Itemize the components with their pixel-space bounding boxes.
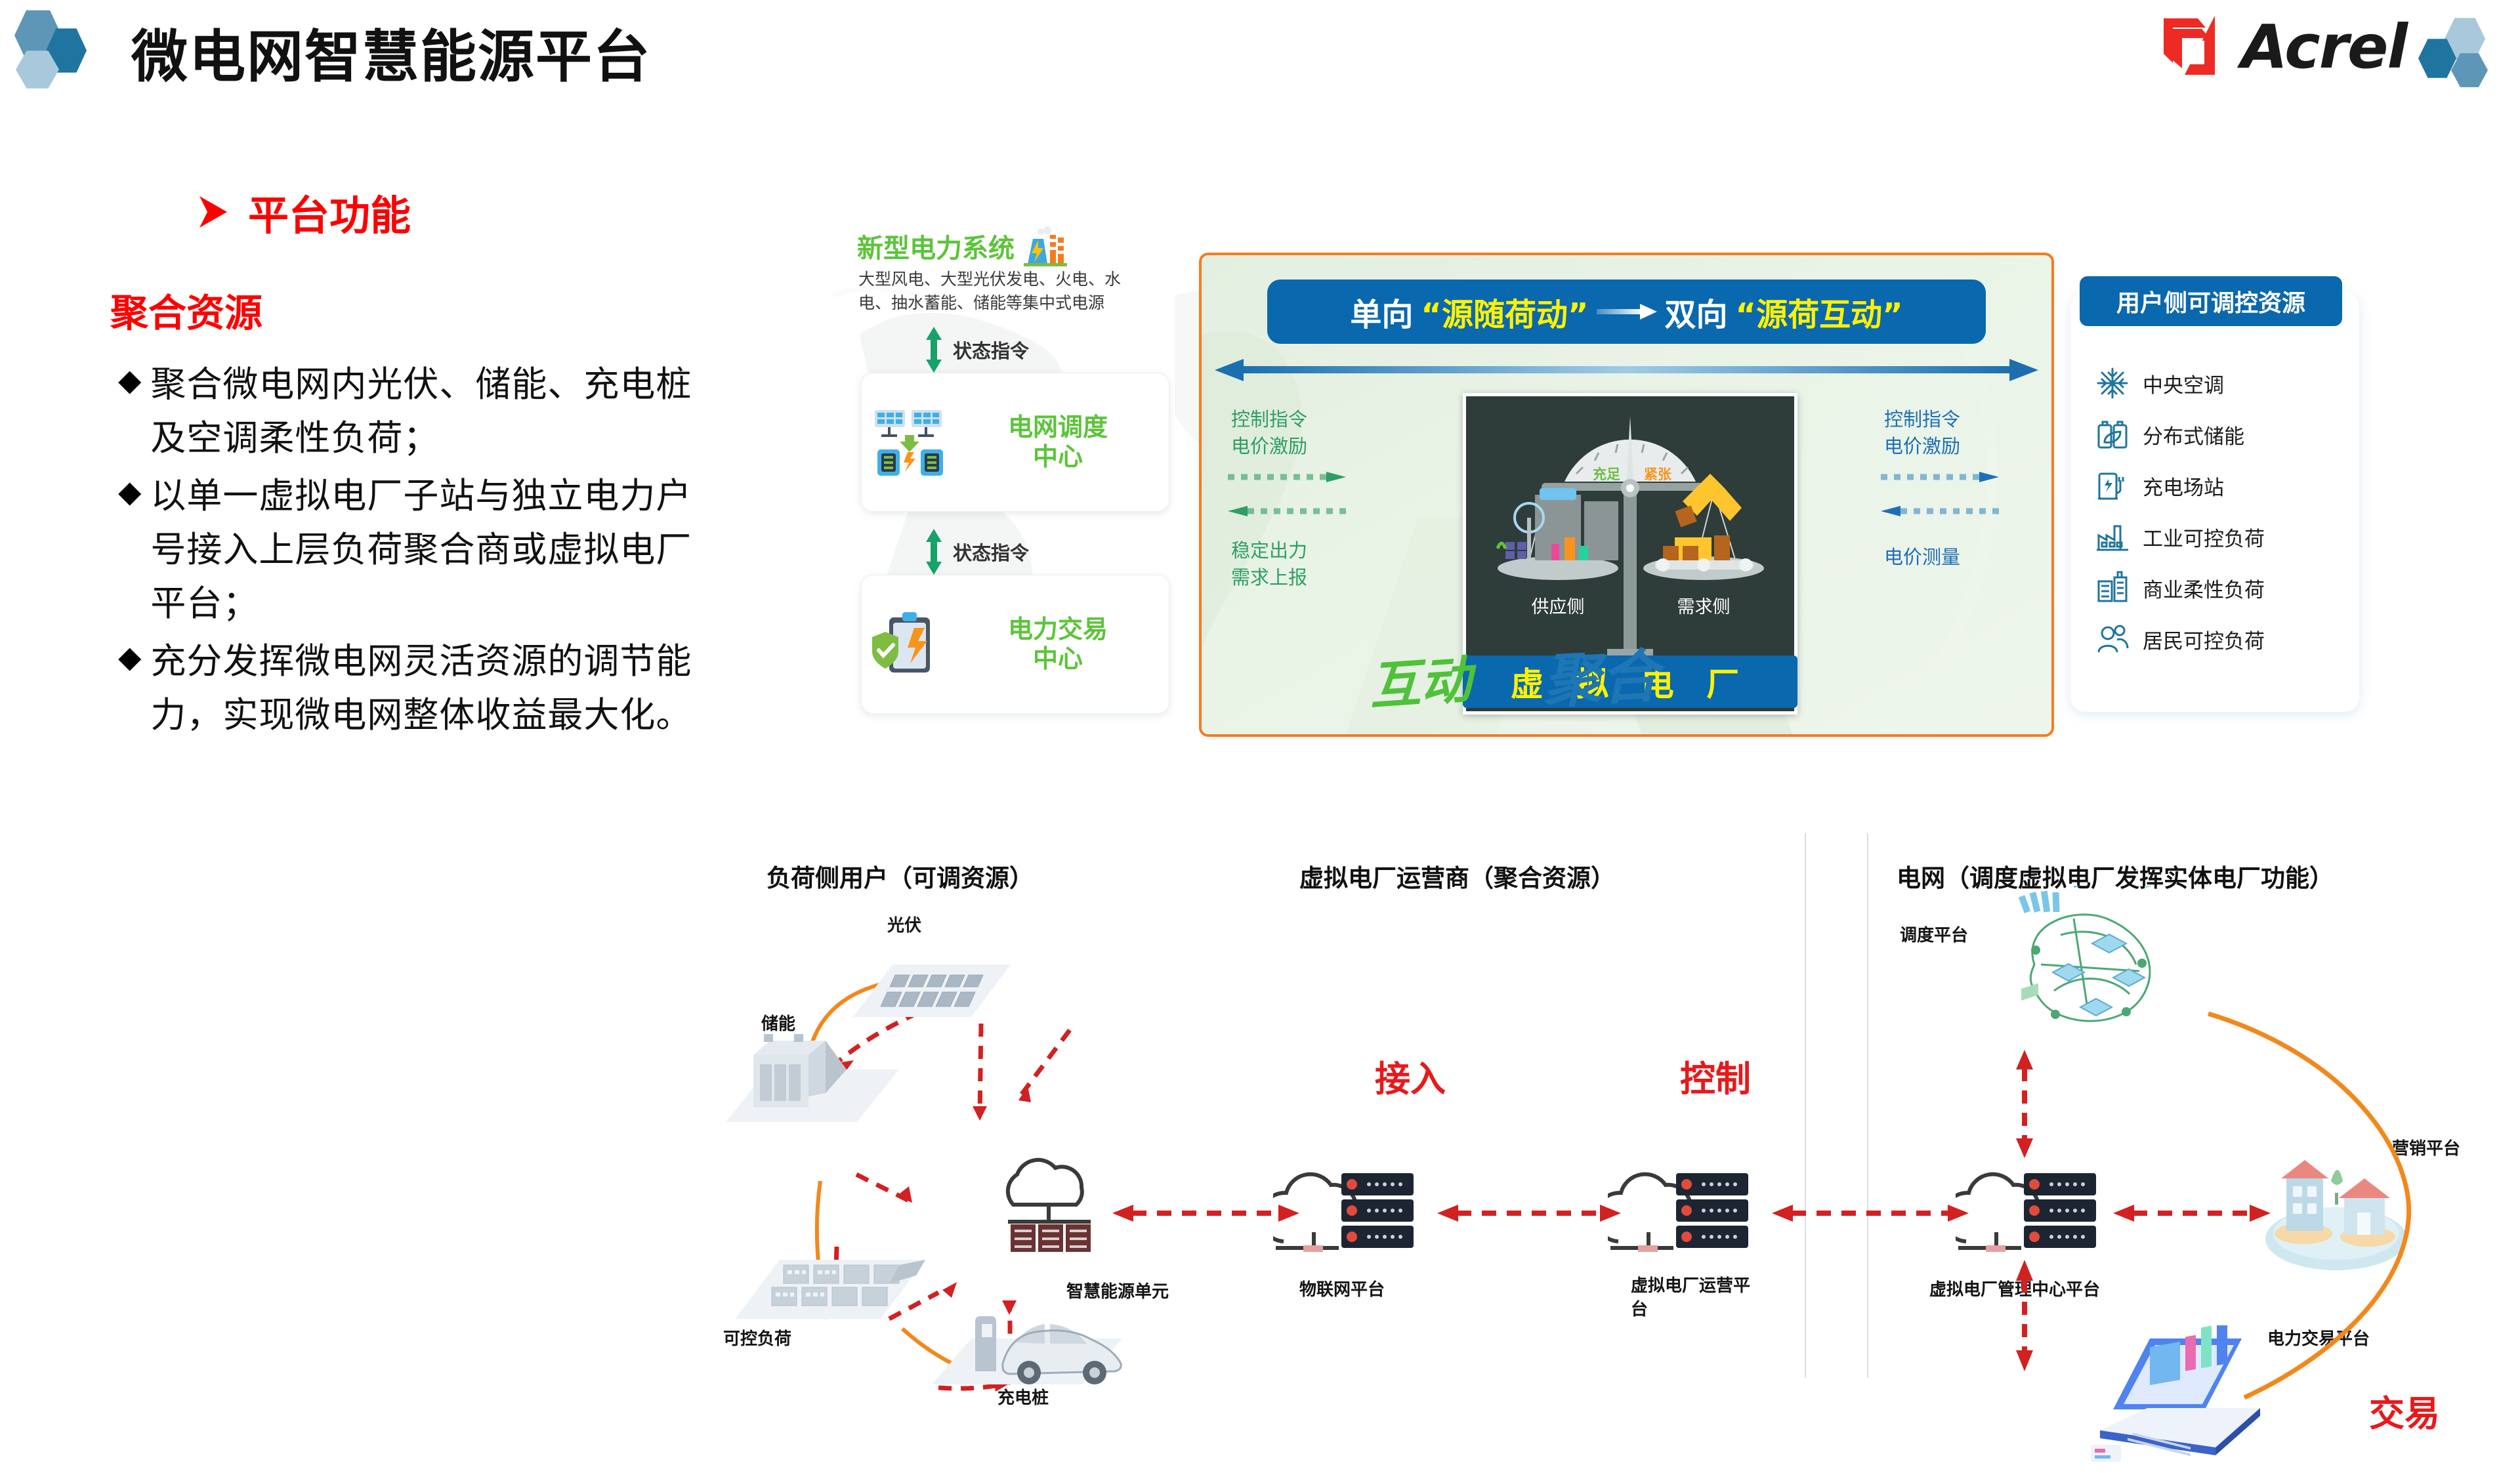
flow-label: 电价激励: [1884, 433, 2022, 460]
user-side-resources-title: 用户侧可调控资源: [2116, 284, 2305, 318]
bidirectional-dashed-arrow-icon: [1112, 1203, 1299, 1223]
status-command-1: 状态指令: [925, 327, 1029, 373]
solar-battery-icon: [871, 406, 950, 478]
power-trading-center-label: 电力交易 中心: [956, 615, 1160, 674]
list-item[interactable]: 居民可控负荷: [2070, 613, 2359, 665]
cloud-server-icon: [984, 1148, 1096, 1247]
grid-dispatch-center-card[interactable]: 电网调度 中心: [861, 373, 1169, 512]
resource-label: 居民可控负荷: [2143, 625, 2265, 654]
user-side-resources-panel: 用户侧可调控资源 中央空调: [2070, 292, 2359, 712]
list-item: ◆ 充分发挥微电网灵活资源的调节能力，实现微电网整体收益最大化。: [118, 634, 709, 742]
flow-label: 控制指令: [1884, 406, 2022, 433]
status-command-label: 状态指令: [953, 538, 1029, 566]
power-trading-center-card[interactable]: 电力交易 中心: [861, 575, 1169, 714]
chevron-right-arrow-icon: [197, 194, 230, 230]
new-power-system-title: 新型电力系统: [857, 227, 1015, 265]
dotted-left-arrow-icon: [1228, 506, 1346, 516]
node-label-iot-platform: 物联网平台: [1299, 1276, 1385, 1300]
resource-label: 工业可控负荷: [2143, 522, 2265, 552]
bullet-list: ◆ 聚合微电网内光伏、储能、充电桩及空调柔性负荷； ◆ 以单一虚拟电厂子站与独立…: [118, 358, 709, 747]
list-item[interactable]: 充电场站: [2070, 460, 2359, 511]
banner-text-1: 单向: [1350, 289, 1413, 335]
bullet-text: 充分发挥微电网灵活资源的调节能力，实现微电网整体收益最大化。: [150, 634, 709, 742]
interaction-word: 互动: [1366, 639, 1473, 720]
stage-label-control: 控制: [1680, 1050, 1751, 1102]
battery-cabinet-icon: [722, 1024, 919, 1151]
banner-quote-2: “源荷互动”: [1736, 289, 1903, 335]
clipboard-bolt-icon: [871, 608, 950, 680]
node-label-dispatch-platform: 调度平台: [1900, 922, 1968, 946]
stage-label-access: 接入: [1375, 1050, 1446, 1102]
node-label-storage: 储能: [761, 1010, 795, 1035]
cloud-server-icon: [1608, 1155, 1719, 1253]
up-down-arrow-icon: [925, 327, 942, 373]
flow-label: 需求上报: [1231, 564, 1369, 591]
bullet-marker: ◆: [118, 634, 141, 680]
section-heading: 平台功能: [197, 182, 411, 241]
hexagon-cluster-icon: [2418, 12, 2497, 83]
new-power-system-description: 大型风电、大型光伏发电、火电、水电、抽水蓄能、储能等集中式电源: [858, 268, 1146, 314]
svg-text:充足: 充足: [1593, 467, 1620, 482]
aggregation-word: 聚合: [1541, 629, 1660, 718]
resource-label: 商业柔性负荷: [2143, 573, 2265, 603]
bidirectional-arrow-icon: [1215, 359, 2038, 381]
battery-leaf-icon: [2095, 417, 2130, 451]
svg-text:供应侧: 供应侧: [1532, 597, 1585, 617]
column-divider: [1867, 833, 1868, 1378]
list-item[interactable]: 分布式储能: [2070, 409, 2359, 460]
left-flow-top: 控制指令 电价激励: [1231, 406, 1369, 460]
status-command-label: 状态指令: [953, 336, 1029, 363]
right-flow-bottom: 电价测量: [1884, 544, 2022, 571]
node-label-vpp-operation-platform: 虚拟电厂运营平台: [1631, 1274, 1755, 1322]
card-line-2: 中心: [956, 644, 1160, 674]
right-arrow-icon: [1597, 302, 1657, 322]
right-flow-top: 控制指令 电价激励: [1884, 406, 2022, 460]
bidirectional-dashed-arrow-icon: [1437, 1203, 1621, 1223]
column-divider: [1805, 833, 1806, 1378]
bullet-marker: ◆: [118, 469, 141, 515]
flow-label: 稳定出力: [1231, 537, 1369, 564]
bullet-text: 以单一虚拟电厂子站与独立电力户号接入上层负荷聚合商或虚拟电厂平台；: [150, 469, 709, 631]
column-title-load-side: 负荷侧用户（可调资源）: [766, 858, 1034, 894]
grid-dispatch-center-label: 电网调度 中心: [956, 413, 1160, 472]
new-power-system-header: 新型电力系统: [857, 226, 1068, 266]
dotted-right-arrow-icon: [1881, 472, 1999, 482]
snowflake-icon: [2095, 366, 2130, 400]
power-plant-icon: [1021, 226, 1068, 266]
acrel-wordmark: Acrel: [2241, 17, 2406, 77]
status-command-2: 状态指令: [925, 529, 1029, 575]
top-architecture-diagram: 新型电力系统 大型风电、大型光伏发电、火电、水电、抽水蓄能、储能等集中式电源: [853, 217, 2428, 741]
list-item: ◆ 聚合微电网内光伏、储能、充电桩及空调柔性负荷；: [118, 358, 709, 465]
office-building-icon: [2095, 571, 2130, 605]
card-line-1: 电力交易: [956, 615, 1160, 644]
acrel-logo: Acrel: [2158, 8, 2497, 87]
ev-charger-icon: [2095, 468, 2130, 503]
bottom-architecture-diagram: 负荷侧用户（可调资源） 虚拟电厂运营商（聚合资源） 电网（调度虚拟电厂发挥实体电…: [722, 807, 2520, 1417]
page-title: 微电网智慧能源平台: [131, 10, 651, 93]
flow-label: 控制指令: [1231, 406, 1369, 433]
resource-label: 中央空调: [2143, 369, 2224, 398]
bullet-text: 聚合微电网内光伏、储能、充电桩及空调柔性负荷；: [150, 358, 709, 465]
node-label-pv: 光伏: [887, 912, 921, 936]
vertical-dashed-arrow-icon: [2015, 1260, 2034, 1371]
bidirectional-dashed-arrow-icon: [1772, 1203, 1969, 1223]
virtual-power-plant-panel: 单向 “源随荷动” 双向 “源荷互动” 控制指令 电价激励: [1199, 253, 2054, 737]
hexagon-cluster-icon: [14, 9, 93, 85]
list-item[interactable]: 中央空调: [2070, 358, 2359, 409]
card-line-2: 中心: [956, 442, 1160, 472]
up-down-arrow-icon: [925, 529, 942, 575]
node-label-smart-energy-unit: 智慧能源单元: [1066, 1278, 1169, 1302]
bullet-marker: ◆: [118, 358, 141, 404]
page-header: 微电网智慧能源平台 Acrel: [0, 0, 2520, 98]
node-label-controllable-load: 可控负荷: [723, 1325, 791, 1350]
list-item[interactable]: 商业柔性负荷: [2070, 562, 2359, 613]
acrel-square-mark-icon: [2158, 12, 2229, 83]
flow-label: 电价激励: [1231, 433, 1369, 460]
new-power-system-column: 新型电力系统 大型风电、大型光伏发电、火电、水电、抽水蓄能、储能等集中式电源: [853, 217, 1162, 741]
subheading: 聚合资源: [110, 282, 262, 337]
flow-label: 电价测量: [1884, 544, 2022, 571]
card-line-1: 电网调度: [956, 413, 1160, 442]
vertical-dashed-arrow-icon: [2015, 1050, 2034, 1158]
dotted-left-arrow-icon: [1881, 506, 1999, 516]
section-heading-label: 平台功能: [248, 182, 411, 241]
cloud-server-icon: [1956, 1155, 2067, 1253]
list-item: ◆ 以单一虚拟电厂子站与独立电力户号接入上层负荷聚合商或虚拟电厂平台；: [118, 469, 709, 631]
factory-icon: [2095, 520, 2130, 554]
resource-label: 充电场站: [2143, 471, 2224, 501]
left-flow-bottom: 稳定出力 需求上报: [1231, 537, 1369, 591]
people-icon: [2095, 622, 2130, 656]
banner-quote-1: “源随荷动”: [1421, 289, 1588, 335]
column-title-vpp-operator: 虚拟电厂运营商（聚合资源）: [1299, 858, 1615, 894]
resource-label: 分布式储能: [2143, 420, 2244, 449]
user-side-resources-header: 用户侧可调控资源: [2080, 276, 2342, 326]
dotted-right-arrow-icon: [1228, 472, 1346, 482]
orange-arc-connector: [2133, 938, 2448, 1411]
list-item[interactable]: 工业可控负荷: [2070, 511, 2359, 562]
transition-banner: 单向 “源随荷动” 双向 “源荷互动”: [1267, 280, 1986, 344]
svg-text:紧张: 紧张: [1644, 467, 1672, 482]
node-label-charging-pile: 充电桩: [997, 1384, 1049, 1409]
banner-text-2: 双向: [1665, 289, 1728, 335]
svg-text:需求侧: 需求侧: [1677, 597, 1731, 617]
